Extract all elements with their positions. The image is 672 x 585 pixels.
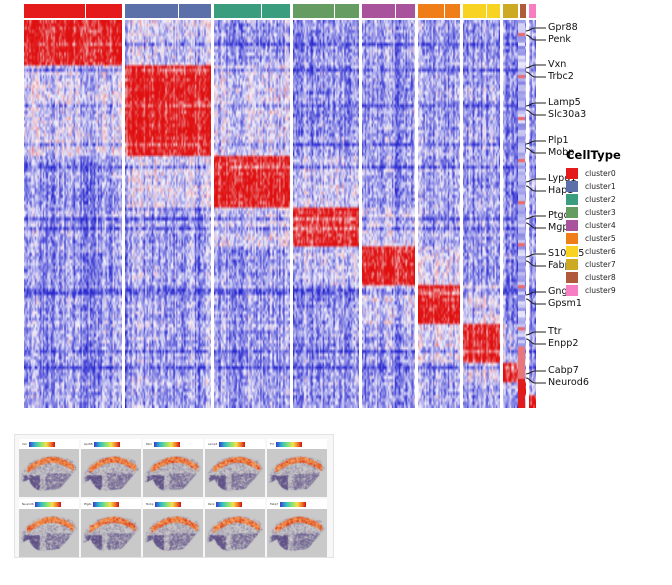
legend-swatch-cluster0 — [566, 168, 578, 179]
spatial-gene-label: Vxn — [22, 442, 27, 445]
gene-names: TtrEnpp2 — [548, 326, 578, 349]
spatial-tissue-image — [267, 509, 327, 557]
legend-item-cluster6[interactable]: cluster6 — [566, 245, 670, 258]
gene-name-bottom: Neurod6 — [548, 377, 589, 389]
gene-names: Lamp5Slc30a3 — [548, 97, 586, 120]
spatial-tile-Ptgds[interactable]: Ptgds — [81, 499, 141, 557]
spatial-colorbar-gradient — [29, 442, 55, 447]
legend-label-cluster0: cluster0 — [585, 169, 616, 178]
heatmap-column-block-cluster0 — [24, 20, 122, 408]
spatial-gene-label: Mobp — [146, 502, 153, 505]
legend-swatch-cluster9 — [566, 285, 578, 296]
gene-bracket-icon — [526, 248, 546, 274]
legend-title: CellType — [566, 148, 670, 162]
legend-swatch-cluster1 — [566, 181, 578, 192]
spatial-gene-label: Ttr — [270, 442, 274, 445]
spatial-tissue-image — [205, 509, 265, 557]
gene-names: Gpr88Penk — [548, 22, 578, 45]
column-annotation-cluster0 — [24, 4, 122, 18]
spatial-colorbar-gradient — [280, 502, 306, 507]
heatmap-body — [24, 20, 536, 408]
column-annotation-cluster5 — [418, 4, 460, 18]
legend-label-cluster4: cluster4 — [585, 221, 616, 230]
spatial-row-1: Neurod6PtgdsMobpPenkFabp7 — [19, 499, 331, 557]
legend-item-cluster5[interactable]: cluster5 — [566, 232, 670, 245]
spatial-tile-Neurod6[interactable]: Neurod6 — [19, 499, 79, 557]
spatial-gene-label: Penk — [208, 502, 215, 505]
gene-bracket-icon — [526, 173, 546, 199]
spatial-colorbar-gradient — [35, 502, 61, 507]
gene-bracket-icon — [526, 365, 546, 391]
spatial-tile-Vxn[interactable]: Vxn — [19, 439, 79, 497]
legend-items: cluster0cluster1cluster2cluster3cluster4… — [566, 167, 670, 297]
spatial-colorbar-Penk: Penk — [205, 499, 265, 509]
gene-name-top: Lamp5 — [548, 97, 586, 109]
gene-names: Cabp7Neurod6 — [548, 365, 589, 388]
gene-bracket-icon — [526, 286, 546, 312]
gene-names: VxnTrbc2 — [548, 59, 574, 82]
spatial-colorbar-gradient — [216, 502, 242, 507]
gene-bracket-icon — [526, 22, 546, 48]
gene-name-top: Gpr88 — [548, 22, 578, 34]
column-annotation-cluster8 — [520, 4, 526, 18]
legend-swatch-cluster5 — [566, 233, 578, 244]
legend-item-cluster9[interactable]: cluster9 — [566, 284, 670, 297]
column-annotation-cluster1 — [125, 4, 211, 18]
spatial-tissue-image — [143, 509, 203, 557]
gene-name-bottom: Enpp2 — [548, 338, 578, 350]
spatial-colorbar-Mobp: Mobp — [143, 499, 203, 509]
legend-label-cluster3: cluster3 — [585, 208, 616, 217]
spatial-tissue-image — [267, 449, 327, 497]
spatial-colorbar-gradient — [93, 502, 119, 507]
gene-name-top: Cabp7 — [548, 365, 589, 377]
spatial-tissue-image — [205, 449, 265, 497]
legend-item-cluster3[interactable]: cluster3 — [566, 206, 670, 219]
spatial-tissue-image — [81, 449, 141, 497]
gene-bracket-icon — [526, 326, 546, 352]
spatial-gene-label: Ptgds — [84, 502, 92, 505]
heatmap-column-block-cluster2 — [214, 20, 290, 408]
legend-swatch-cluster6 — [566, 246, 578, 257]
spatial-tissue-image — [81, 509, 141, 557]
spatial-colorbar-Lamp5: Lamp5 — [205, 439, 265, 449]
spatial-colorbar-Ttr: Ttr — [267, 439, 327, 449]
heatmap-column-block-cluster7 — [503, 20, 518, 408]
spatial-expression-panel: VxnGpr88Plp1Lamp5TtrNeurod6PtgdsMobpPenk… — [14, 434, 334, 558]
gene-label-pair-0: Gpr88Penk — [526, 22, 646, 48]
gene-name-top: Vxn — [548, 59, 574, 71]
column-annotation-cluster3 — [293, 4, 359, 18]
legend-swatch-cluster3 — [566, 207, 578, 218]
legend-item-cluster1[interactable]: cluster1 — [566, 180, 670, 193]
spatial-tile-Gpr88[interactable]: Gpr88 — [81, 439, 141, 497]
spatial-colorbar-gradient — [276, 442, 302, 447]
column-annotation-cluster7 — [503, 4, 518, 18]
gene-bracket-icon — [526, 59, 546, 85]
spatial-gene-label: Lamp5 — [208, 442, 217, 445]
spatial-colorbar-Fabp7: Fabp7 — [267, 499, 327, 509]
gene-name-bottom: Slc30a3 — [548, 109, 586, 121]
legend-swatch-cluster2 — [566, 194, 578, 205]
row-annotation-strip — [518, 20, 525, 408]
expression-heatmap-figure: Gpr88PenkVxnTrbc2Lamp5Slc30a3Plp1MobpLyp… — [0, 0, 672, 585]
spatial-gene-label: Fabp7 — [270, 502, 278, 505]
spatial-tile-Penk[interactable]: Penk — [205, 499, 265, 557]
spatial-tissue-image — [143, 449, 203, 497]
spatial-tissue-image — [19, 509, 79, 557]
heatmap-column-block-cluster5 — [418, 20, 460, 408]
spatial-tile-Mobp[interactable]: Mobp — [143, 499, 203, 557]
legend-label-cluster6: cluster6 — [585, 247, 616, 256]
legend-label-cluster2: cluster2 — [585, 195, 616, 204]
gene-name-top: Plp1 — [548, 135, 574, 147]
heatmap-column-block-cluster4 — [362, 20, 415, 408]
spatial-colorbar-gradient — [219, 442, 245, 447]
spatial-colorbar-gradient — [155, 502, 181, 507]
gene-bracket-icon — [526, 97, 546, 123]
legend-swatch-cluster4 — [566, 220, 578, 231]
spatial-colorbar-Neurod6: Neurod6 — [19, 499, 79, 509]
spatial-tile-Plp1[interactable]: Plp1 — [143, 439, 203, 497]
column-annotation-cluster6 — [463, 4, 500, 18]
spatial-colorbar-gradient — [154, 442, 180, 447]
spatial-tile-Lamp5[interactable]: Lamp5 — [205, 439, 265, 497]
spatial-gene-label: Gpr88 — [84, 442, 92, 445]
heatmap-column-block-cluster1 — [125, 20, 211, 408]
legend-swatch-cluster7 — [566, 259, 578, 270]
gene-label-pair-8: TtrEnpp2 — [526, 326, 646, 352]
spatial-tissue-image — [19, 449, 79, 497]
legend-swatch-cluster8 — [566, 272, 578, 283]
column-annotation-cluster2 — [214, 4, 290, 18]
heatmap-column-block-cluster3 — [293, 20, 359, 408]
gene-name-bottom: Penk — [548, 34, 578, 46]
gene-bracket-icon — [526, 210, 546, 236]
legend-label-cluster9: cluster9 — [585, 286, 616, 295]
gene-bracket-icon — [526, 135, 546, 161]
legend-item-cluster7[interactable]: cluster7 — [566, 258, 670, 271]
column-annotation-bar — [24, 4, 536, 18]
gene-name-top: Ttr — [548, 326, 578, 338]
column-annotation-cluster4 — [362, 4, 415, 18]
legend-item-cluster4[interactable]: cluster4 — [566, 219, 670, 232]
legend-label-cluster1: cluster1 — [585, 182, 616, 191]
spatial-tile-Fabp7[interactable]: Fabp7 — [267, 499, 327, 557]
gene-label-pair-9: Cabp7Neurod6 — [526, 365, 646, 391]
column-annotation-cluster9 — [529, 4, 536, 18]
celltype-legend: CellType cluster0cluster1cluster2cluster… — [566, 148, 670, 297]
spatial-gene-label: Plp1 — [146, 442, 152, 445]
spatial-colorbar-Gpr88: Gpr88 — [81, 439, 141, 449]
legend-item-cluster8[interactable]: cluster8 — [566, 271, 670, 284]
heatmap-column-block-cluster6 — [463, 20, 500, 408]
spatial-gene-label: Neurod6 — [22, 502, 34, 505]
spatial-colorbar-Plp1: Plp1 — [143, 439, 203, 449]
gene-label-pair-2: Lamp5Slc30a3 — [526, 97, 646, 123]
spatial-row-0: VxnGpr88Plp1Lamp5Ttr — [19, 439, 331, 497]
gene-label-pair-1: VxnTrbc2 — [526, 59, 646, 85]
gene-name-bottom: Trbc2 — [548, 71, 574, 83]
spatial-colorbar-Vxn: Vxn — [19, 439, 79, 449]
legend-label-cluster8: cluster8 — [585, 273, 616, 282]
gene-name-bottom: Gpsm1 — [548, 298, 582, 310]
legend-item-cluster0[interactable]: cluster0 — [566, 167, 670, 180]
spatial-colorbar-Ptgds: Ptgds — [81, 499, 141, 509]
legend-label-cluster5: cluster5 — [585, 234, 616, 243]
legend-label-cluster7: cluster7 — [585, 260, 616, 269]
spatial-tile-Ttr[interactable]: Ttr — [267, 439, 327, 497]
legend-item-cluster2[interactable]: cluster2 — [566, 193, 670, 206]
spatial-colorbar-gradient — [94, 442, 120, 447]
